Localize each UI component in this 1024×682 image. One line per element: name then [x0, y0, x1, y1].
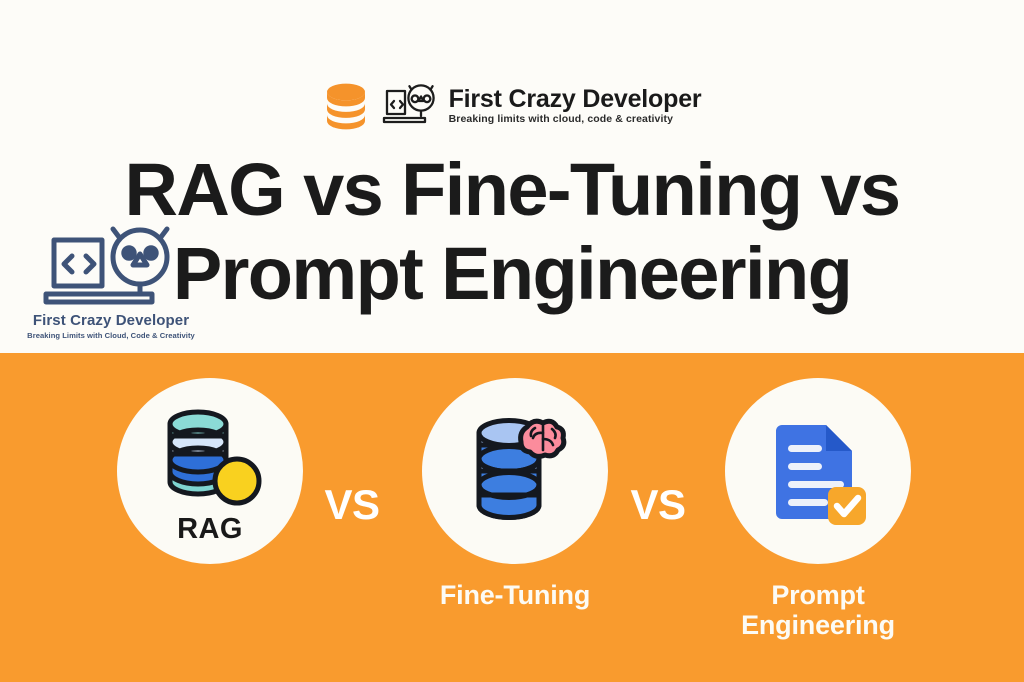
- rag-label: RAG: [117, 513, 303, 546]
- document-with-check-icon: [756, 409, 880, 533]
- prompt-engineering-label-line-2: Engineering: [703, 610, 933, 640]
- brand-name: First Crazy Developer: [449, 87, 702, 112]
- database-with-coin-icon: [148, 396, 272, 520]
- header-band: First Crazy Developer Breaking limits wi…: [0, 0, 1024, 353]
- prompt-engineering-label: Prompt Engineering: [703, 580, 933, 640]
- prompt-engineering-circle: [725, 378, 911, 564]
- rag-circle: RAG: [117, 378, 303, 564]
- brand-words: First Crazy Developer Breaking limits wi…: [449, 87, 702, 125]
- brand-lockup: First Crazy Developer Breaking limits wi…: [0, 78, 1024, 134]
- prompt-engineering-label-line-1: Prompt: [771, 580, 864, 610]
- database-stack-icon: [323, 81, 369, 131]
- database-with-brain-icon: [453, 409, 577, 533]
- fine-tuning-label: Fine-Tuning: [400, 580, 630, 610]
- laptop-owl-icon: [36, 224, 186, 310]
- brand-tagline: Breaking limits with cloud, code & creat…: [449, 114, 673, 125]
- comparison-item-rag[interactable]: RAG: [95, 378, 325, 564]
- poster-canvas: First Crazy Developer Breaking limits wi…: [0, 0, 1024, 682]
- fine-tuning-circle: [422, 378, 608, 564]
- vs-separator-2: VS: [618, 481, 698, 529]
- comparison-item-prompt-engineering[interactable]: Prompt Engineering: [703, 378, 933, 640]
- watermark-brand-name: First Crazy Developer: [22, 312, 200, 329]
- watermark-tagline: Breaking Limits with Cloud, Code & Creat…: [22, 331, 200, 340]
- page-title-line-1: RAG vs Fine-Tuning vs: [0, 148, 1024, 232]
- comparison-row: RAG VS: [0, 353, 1024, 682]
- laptop-owl-icon: [381, 83, 439, 129]
- comparison-item-fine-tuning[interactable]: Fine-Tuning: [400, 378, 630, 610]
- comparison-band: RAG VS: [0, 353, 1024, 682]
- vs-separator-1: VS: [312, 481, 392, 529]
- watermark-logo: First Crazy Developer Breaking Limits wi…: [22, 224, 200, 340]
